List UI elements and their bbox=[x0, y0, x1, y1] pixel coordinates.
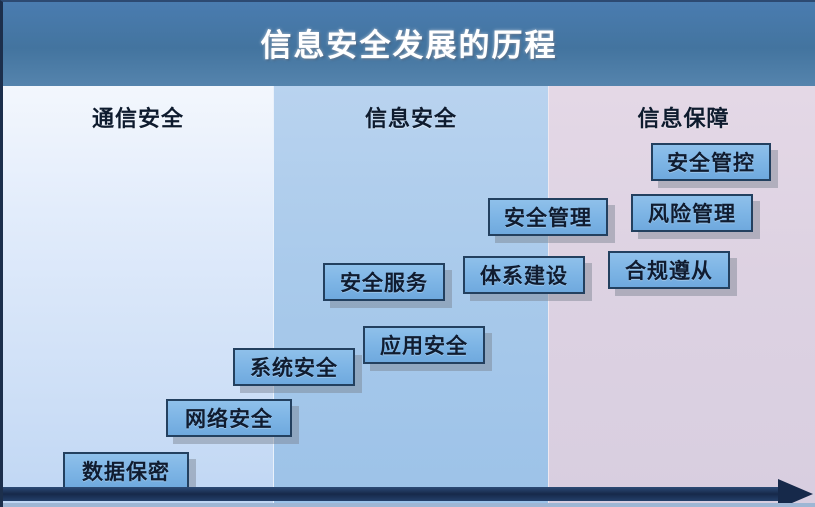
page-title: 信息安全发展的历程 bbox=[3, 20, 815, 65]
column-header-1: 通信安全 bbox=[3, 101, 273, 133]
slide-canvas: 信息安全发展的历程 通信安全 信息安全 信息保障 数据保密网络安全系统安全应用安… bbox=[0, 0, 815, 507]
title-banner: 信息安全发展的历程 bbox=[0, 0, 815, 86]
stages-board: 通信安全 信息安全 信息保障 数据保密网络安全系统安全应用安全安全服务体系建设安… bbox=[0, 86, 815, 507]
step-box[interactable]: 合规遵从 bbox=[608, 251, 730, 289]
stage-column-communication-security: 通信安全 bbox=[3, 86, 273, 507]
step-box[interactable]: 安全服务 bbox=[323, 263, 445, 301]
step-box[interactable]: 应用安全 bbox=[363, 326, 485, 364]
step-box[interactable]: 系统安全 bbox=[233, 348, 355, 386]
column-header-3: 信息保障 bbox=[549, 101, 815, 133]
step-box[interactable]: 网络安全 bbox=[166, 399, 292, 437]
arrow-shaft bbox=[3, 487, 785, 501]
arrow-baseline bbox=[3, 503, 815, 507]
time-axis-arrow bbox=[3, 483, 815, 507]
column-header-2: 信息安全 bbox=[274, 101, 548, 133]
step-box[interactable]: 风险管理 bbox=[631, 194, 753, 232]
step-box[interactable]: 体系建设 bbox=[463, 256, 585, 294]
step-box[interactable]: 安全管控 bbox=[651, 143, 771, 181]
step-box[interactable]: 安全管理 bbox=[488, 198, 608, 236]
